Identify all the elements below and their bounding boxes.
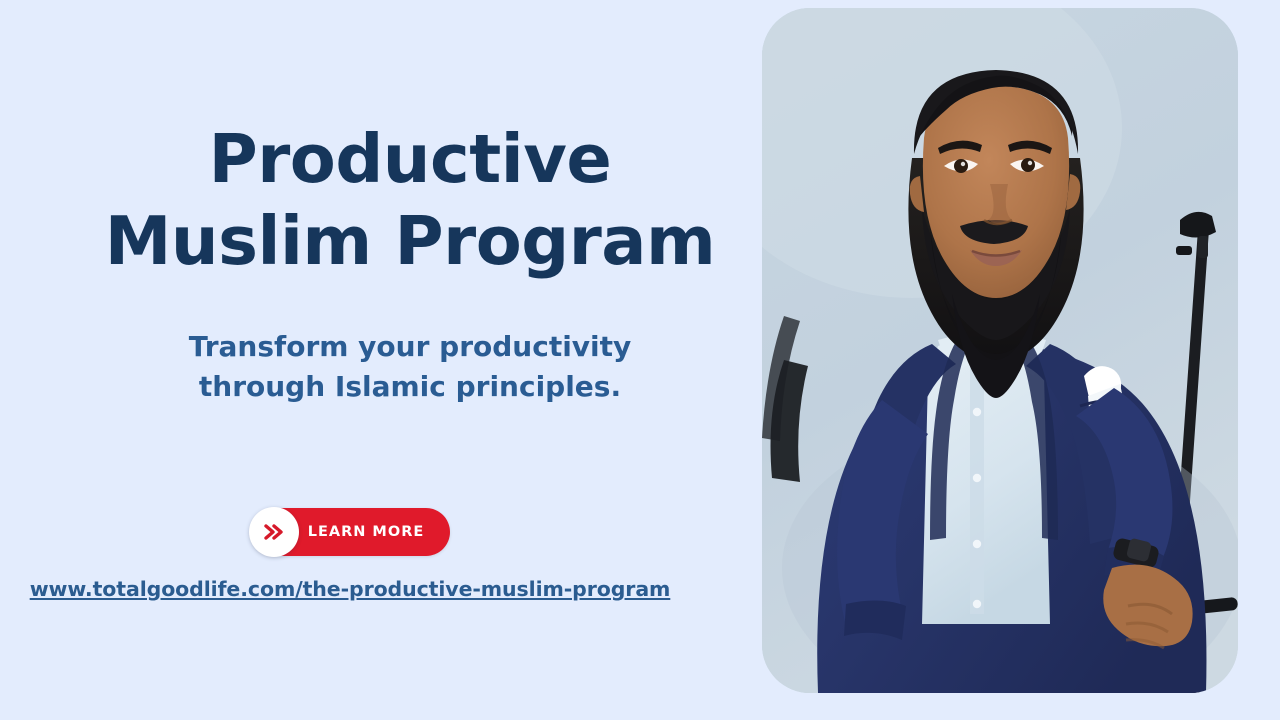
double-chevron-right-icon — [249, 507, 299, 557]
url-container: www.totalgoodlife.com/the-productive-mus… — [0, 577, 700, 601]
text-column: Productive Muslim Program Transform your… — [60, 0, 760, 720]
learn-more-button[interactable]: LEARN MORE — [250, 508, 451, 556]
website-url[interactable]: www.totalgoodlife.com/the-productive-mus… — [30, 577, 671, 601]
portrait-photo-card — [762, 8, 1238, 693]
portrait-photo — [762, 8, 1238, 693]
learn-more-label: LEARN MORE — [308, 524, 425, 540]
page-subtitle: Transform your productivity through Isla… — [130, 327, 690, 408]
promo-banner: Productive Muslim Program Transform your… — [0, 0, 1280, 720]
page-title: Productive Muslim Program — [90, 118, 730, 283]
cta-container: LEARN MORE — [0, 508, 700, 556]
